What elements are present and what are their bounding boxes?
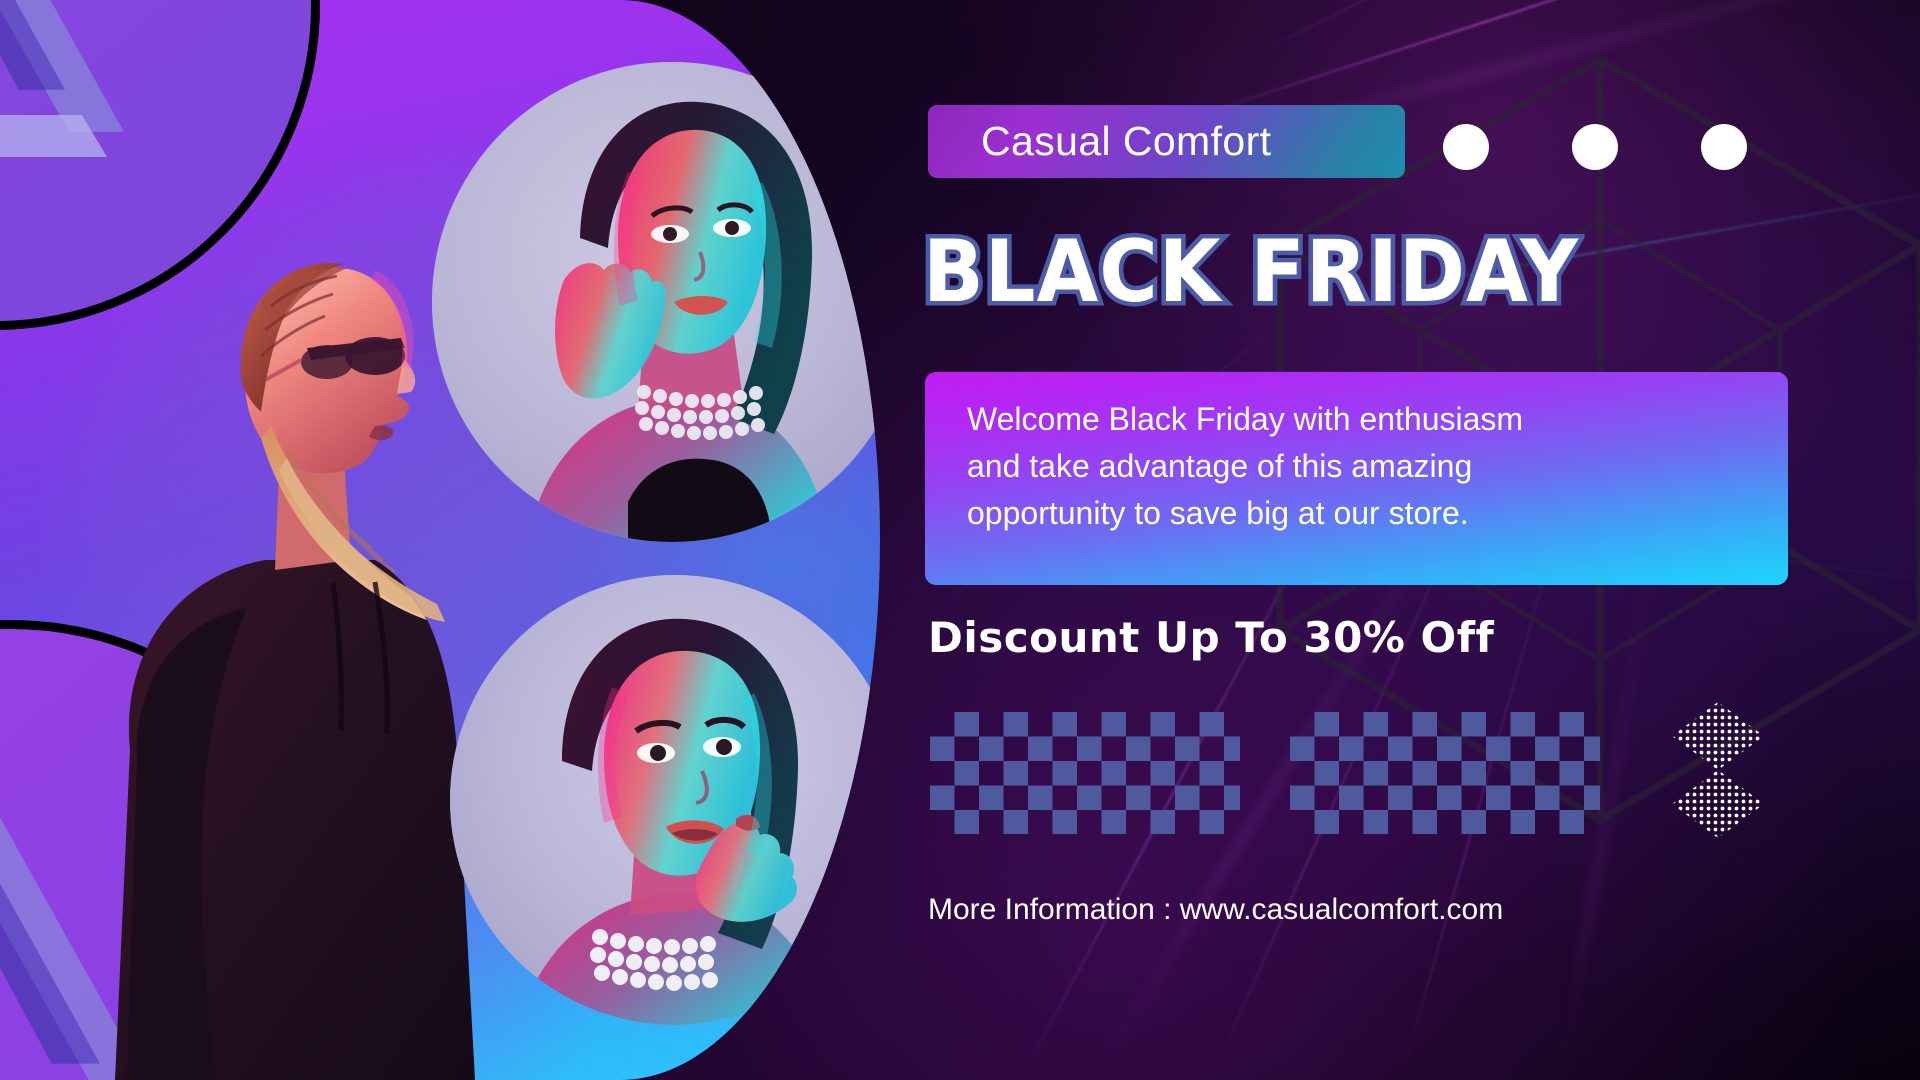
dotted-diamond-icon-bottom [1672, 770, 1764, 838]
dotted-diamond-icon-group [1670, 700, 1766, 840]
banner-canvas: Casual Comfort BLACK FRIDAY Welcome Blac… [0, 0, 1920, 1080]
brand-name: Casual Comfort [981, 118, 1271, 165]
dotted-diamond-icon-top [1672, 702, 1764, 770]
headline-title: BLACK FRIDAY [923, 222, 1809, 322]
model-photo-hoodie [75, 230, 495, 1080]
dot-icon-2 [1572, 124, 1618, 170]
dot-icon-1 [1443, 124, 1489, 170]
checkerboard-decoration-group [930, 712, 1600, 834]
discount-text: Discount Up To 30% Off [928, 613, 1494, 662]
promo-line-1: Welcome Black Friday with enthusiasm [967, 396, 1746, 443]
checkerboard-block-1 [930, 712, 1240, 834]
more-information-text: More Information : www.casualcomfort.com [928, 893, 1503, 927]
left-image-collage-panel [0, 0, 880, 1080]
dot-icon-3 [1701, 124, 1747, 170]
promo-line-2: and take advantage of this amazing [967, 443, 1746, 490]
decorative-dots-group [1443, 124, 1747, 170]
promo-message-panel: Welcome Black Friday with enthusiasm and… [925, 372, 1788, 585]
checkerboard-block-2 [1290, 712, 1600, 834]
brand-badge[interactable]: Casual Comfort [928, 105, 1405, 178]
content-column: Casual Comfort BLACK FRIDAY Welcome Blac… [928, 0, 1780, 1080]
model-portrait-circle-bottom [450, 575, 880, 1025]
promo-line-3: opportunity to save big at our store. [967, 490, 1746, 537]
